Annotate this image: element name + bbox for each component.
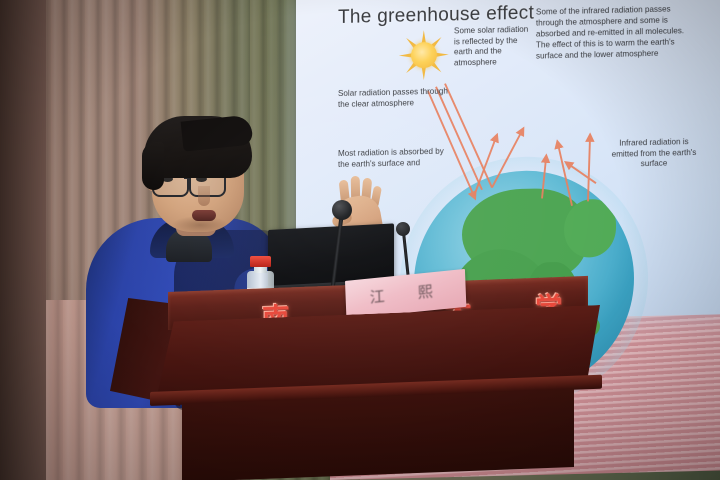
- outgoing-infrared-arrows: [542, 137, 596, 206]
- slide-text-solar-passes: Solar radiation passes through the clear…: [338, 86, 458, 110]
- mouth: [192, 210, 216, 221]
- podium-base: [182, 389, 574, 480]
- slide-text-some-reflected: Some solar radiation is reflected by the…: [454, 25, 532, 69]
- lecture-photo: The greenhouse effect: [0, 0, 720, 480]
- slide-text-infrared-emitted: Infrared radiation is emitted from the e…: [608, 137, 700, 171]
- hair-sideburn: [142, 142, 164, 190]
- nose: [198, 186, 210, 206]
- name-card-char-2: 熙: [417, 280, 433, 302]
- bottle-neck: [254, 266, 267, 273]
- wall-edge-left: [0, 0, 46, 480]
- slide-text-most-absorbed: Most radiation is absorbed by the earth'…: [338, 147, 448, 171]
- name-card-char-1: 江: [369, 285, 385, 307]
- microphone-secondary: [396, 222, 410, 236]
- slide-text-infrared-trapped: Some of the infrared radiation passes th…: [536, 3, 696, 62]
- bottle-cap[interactable]: [250, 256, 271, 267]
- gooseneck-microphone[interactable]: [332, 200, 352, 220]
